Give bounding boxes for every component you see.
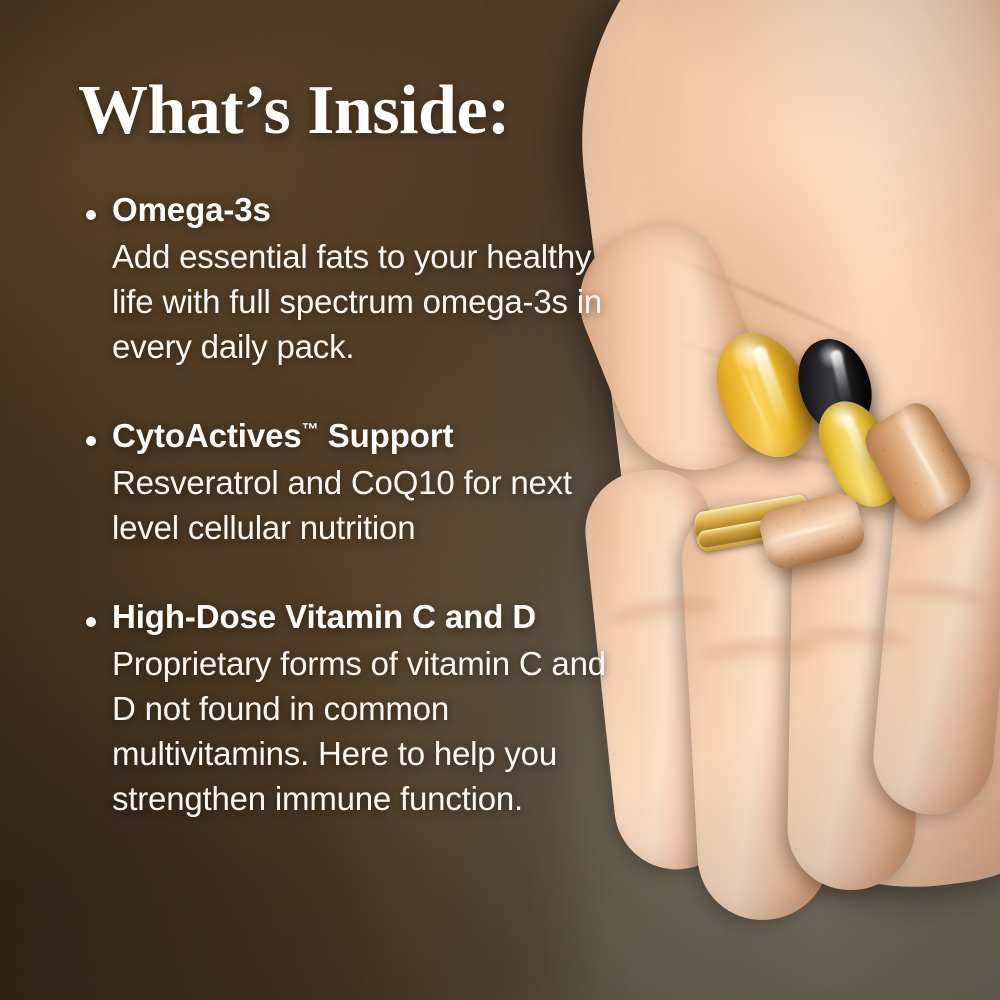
page-title: What’s Inside:: [78, 76, 660, 146]
benefits-list: Omega-3s Add essential fats to your heal…: [78, 190, 660, 822]
list-item-title: High-Dose Vitamin C and D: [112, 597, 660, 637]
bullet-dot-icon: [86, 617, 96, 627]
list-item-title: Omega-3s: [112, 190, 660, 230]
list-item-description: Proprietary forms of vitamin C and D not…: [112, 642, 612, 822]
list-item-description: Add essential fats to your healthy life …: [112, 235, 612, 370]
list-item-description: Resveratrol and CoQ10 for next level cel…: [112, 461, 612, 551]
list-item-title-suffix: Support: [319, 417, 454, 454]
bullet-dot-icon: [86, 436, 96, 446]
list-item: High-Dose Vitamin C and D Proprietary fo…: [78, 597, 660, 822]
list-item: CytoActives™ Support Resveratrol and CoQ…: [78, 416, 660, 551]
bullet-dot-icon: [86, 210, 96, 220]
list-item-body: High-Dose Vitamin C and D Proprietary fo…: [112, 597, 660, 822]
list-item-title-text: High-Dose Vitamin C and D: [112, 598, 536, 635]
copy-block: What’s Inside: Omega-3s Add essential fa…: [0, 0, 660, 1000]
list-item-body: Omega-3s Add essential fats to your heal…: [112, 190, 660, 370]
list-item-body: CytoActives™ Support Resveratrol and CoQ…: [112, 416, 660, 551]
list-item-title-text: CytoActives: [112, 417, 302, 454]
trademark-symbol: ™: [302, 420, 319, 439]
list-item-title: CytoActives™ Support: [112, 416, 660, 456]
list-item-title-text: Omega-3s: [112, 191, 271, 228]
list-item: Omega-3s Add essential fats to your heal…: [78, 190, 660, 370]
product-benefits-graphic: What’s Inside: Omega-3s Add essential fa…: [0, 0, 1000, 1000]
